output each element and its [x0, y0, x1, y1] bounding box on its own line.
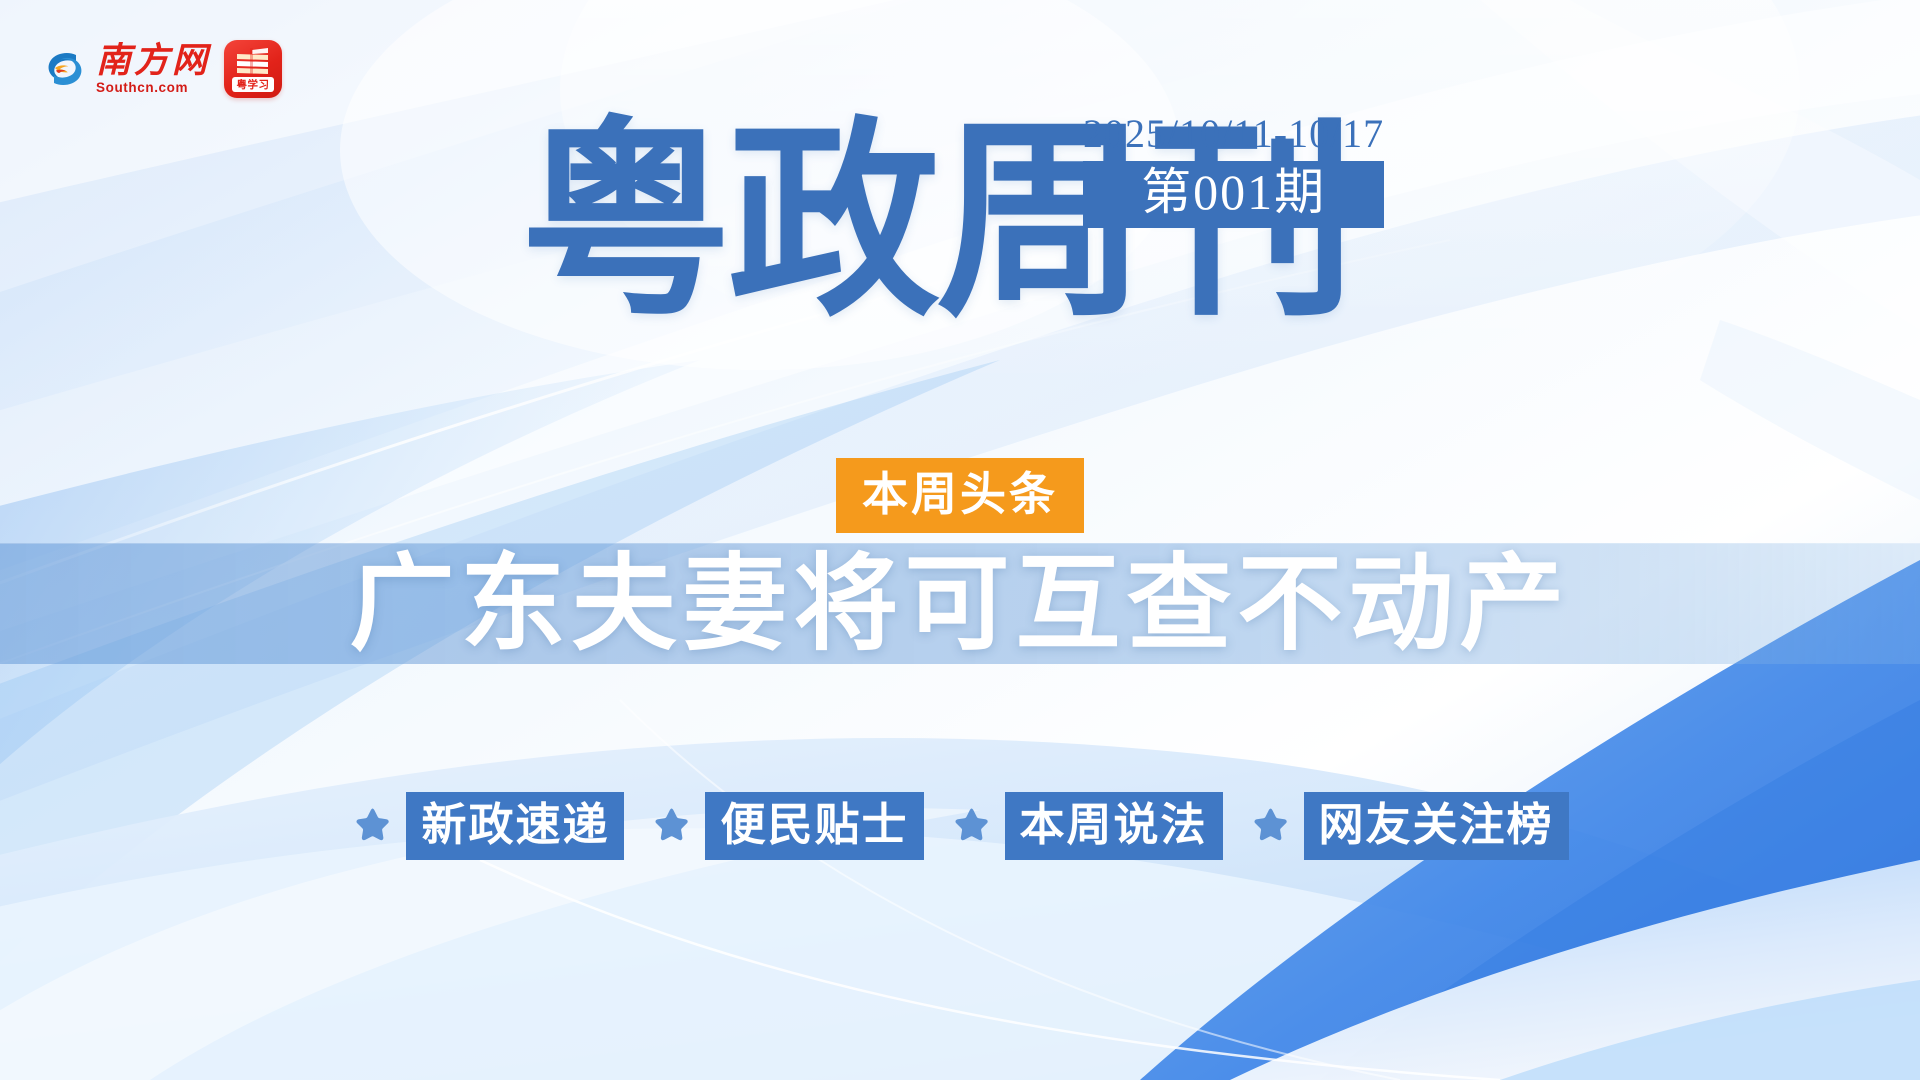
yuexuexi-app-icon[interactable]: 粤学习 — [224, 40, 282, 98]
section-tag-benzhoushuofa[interactable]: 本周说法 — [950, 792, 1223, 860]
masthead: 粤政周刊 2025/10/11-10/17 第001期 — [0, 118, 1920, 418]
section-tag-label: 网友关注榜 — [1304, 792, 1569, 860]
star-icon — [950, 805, 992, 847]
publication-title: 粤政周刊 — [520, 118, 1352, 330]
southcn-swirl-icon — [42, 46, 88, 92]
section-tag-wangyouguanzhubang[interactable]: 网友关注榜 — [1249, 792, 1569, 860]
book-icon — [235, 48, 271, 75]
star-icon — [351, 805, 393, 847]
southcn-logo[interactable]: 南方网 Southcn.com — [42, 43, 210, 95]
issue-block: 2025/10/11-10/17 第001期 — [1083, 112, 1384, 228]
section-tag-label: 本周说法 — [1005, 792, 1223, 860]
star-icon — [650, 805, 692, 847]
headline-band — [0, 543, 1920, 664]
issue-date-range: 2025/10/11-10/17 — [1083, 112, 1384, 156]
headline-badge: 本周头条 — [836, 458, 1084, 533]
section-tag-label: 便民贴士 — [705, 792, 923, 860]
section-tag-xinzhengsudi[interactable]: 新政速递 — [351, 792, 624, 860]
brand-logo-row: 南方网 Southcn.com 粤学习 — [42, 40, 282, 98]
star-icon — [1249, 805, 1291, 847]
issue-number-badge: 第001期 — [1083, 161, 1384, 228]
southcn-domain: Southcn.com — [96, 81, 188, 95]
poster-canvas: 南方网 Southcn.com 粤学习 粤政周刊 2025/10/11-10/1… — [0, 0, 1920, 1080]
section-tag-bianmintieshi[interactable]: 便民贴士 — [650, 792, 923, 860]
section-tag-label: 新政速递 — [406, 792, 624, 860]
southcn-chinese-name: 南方网 — [96, 43, 210, 78]
section-tag-row: 新政速递 便民贴士 本周说法 网友关注榜 — [0, 792, 1920, 860]
yuexuexi-label: 粤学习 — [232, 77, 274, 92]
background-decoration — [0, 0, 1920, 1080]
southcn-wordmark: 南方网 Southcn.com — [96, 43, 210, 95]
